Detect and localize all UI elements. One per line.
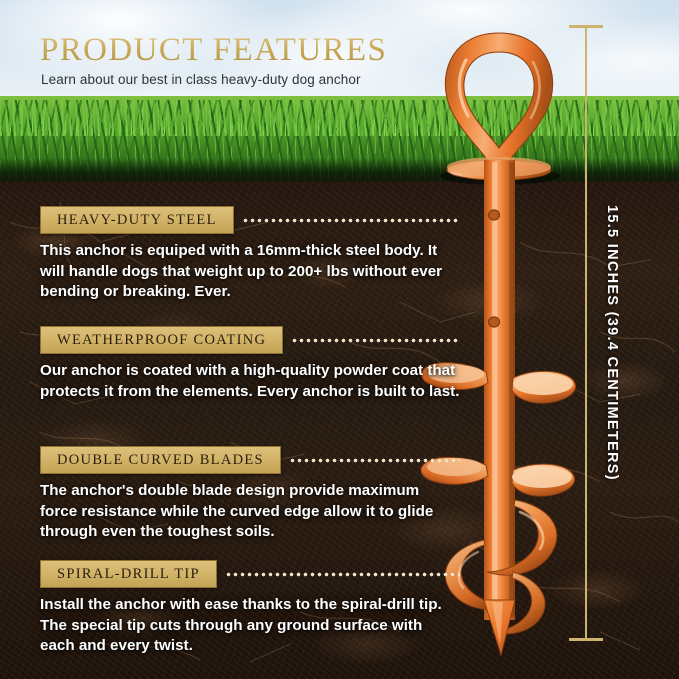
- feature-block-double-curved-blades: DOUBLE CURVED BLADES The anchor's double…: [40, 447, 460, 543]
- feature-block-heavy-duty-steel: HEAVY-DUTY STEEL This anchor is equiped …: [40, 207, 460, 303]
- feature-badge-label: DOUBLE CURVED BLADES: [40, 446, 281, 474]
- measurement-line: [585, 25, 587, 641]
- dotted-divider: [242, 207, 460, 233]
- feature-badge-row: HEAVY-DUTY STEEL: [40, 207, 460, 233]
- dotted-divider: [291, 327, 460, 353]
- feature-body-text: The anchor's double blade design provide…: [40, 481, 460, 543]
- dotted-divider: [225, 561, 460, 587]
- feature-badge-row: SPIRAL-DRILL TIP: [40, 561, 460, 587]
- product-features-infographic: PRODUCT FEATURES Learn about our best in…: [0, 0, 679, 679]
- page-title: PRODUCT FEATURES: [40, 32, 387, 69]
- feature-block-weatherproof-coating: WEATHERPROOF COATING Our anchor is coate…: [40, 327, 460, 402]
- feature-badge-label: WEATHERPROOF COATING: [40, 326, 283, 354]
- page-subtitle: Learn about our best in class heavy-duty…: [41, 72, 361, 87]
- feature-badge-row: DOUBLE CURVED BLADES: [40, 447, 460, 473]
- dotted-divider: [289, 447, 460, 473]
- grass-top-edge: [0, 96, 679, 136]
- feature-body-text: This anchor is equiped with a 16mm-thick…: [40, 241, 460, 303]
- measurement-cap-bottom: [569, 638, 603, 641]
- feature-badge-label: HEAVY-DUTY STEEL: [40, 206, 234, 234]
- feature-badge-row: WEATHERPROOF COATING: [40, 327, 460, 353]
- measurement-label: 15.5 INCHES (39.4 CENTIMETERS): [604, 205, 620, 481]
- feature-badge-label: SPIRAL-DRILL TIP: [40, 560, 217, 588]
- feature-body-text: Install the anchor with ease thanks to t…: [40, 595, 460, 657]
- feature-body-text: Our anchor is coated with a high-quality…: [40, 361, 460, 402]
- feature-block-spiral-drill-tip: SPIRAL-DRILL TIP Install the anchor with…: [40, 561, 460, 657]
